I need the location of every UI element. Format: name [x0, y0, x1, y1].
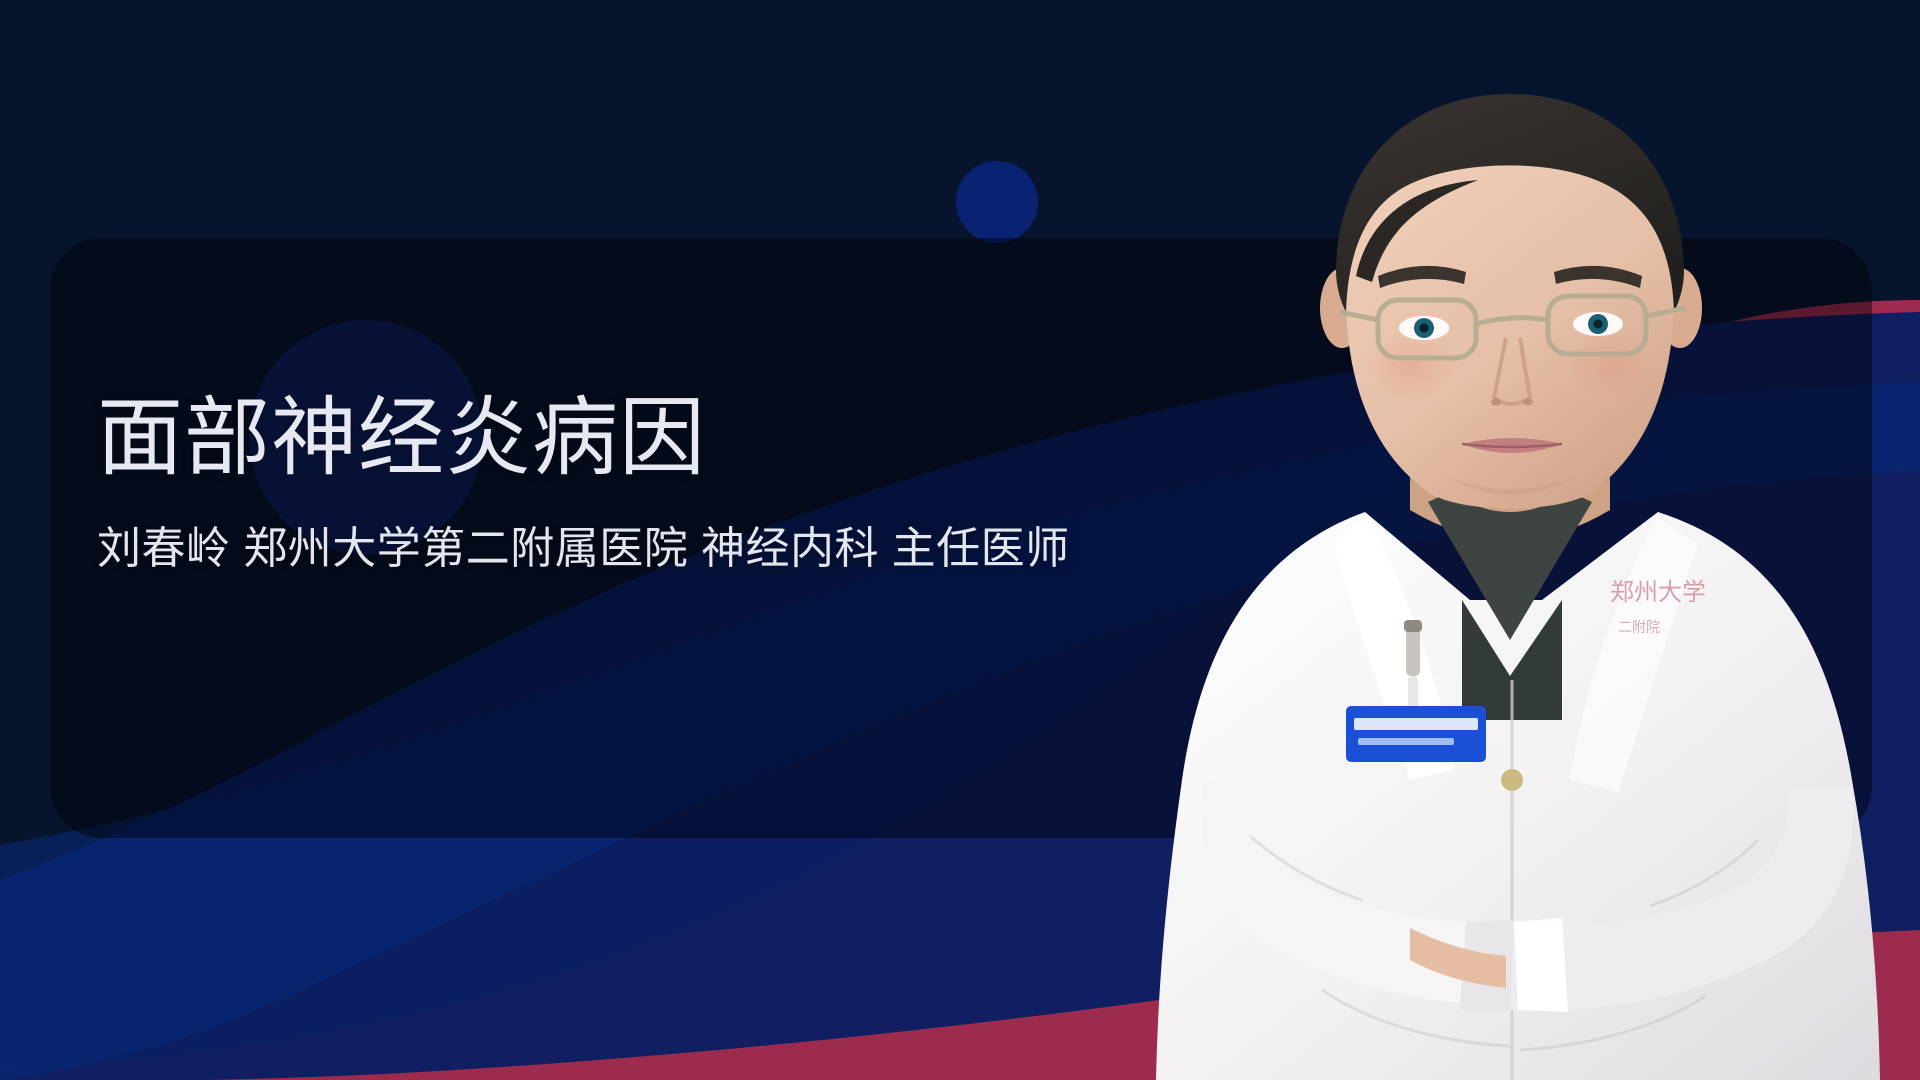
coat-emblem-subtext: 二附院 [1618, 619, 1660, 635]
slide-canvas: 面部神经炎病因 刘春岭 郑州大学第二附属医院 神经内科 主任医师 [0, 0, 1920, 1080]
presenter-byline: 刘春岭 郑州大学第二附属医院 神经内科 主任医师 [97, 523, 1257, 576]
coat-emblem-text: 郑州大学 [1610, 579, 1706, 606]
slide-title: 面部神经炎病因 [97, 392, 1257, 485]
presenter-portrait: 郑州大学 二附院 [1110, 80, 1920, 1080]
small-blue-dot [956, 161, 1038, 243]
portrait-illustration: 郑州大学 二附院 [1110, 80, 1920, 1080]
nostril-left [1491, 399, 1501, 406]
pupil-left [1420, 324, 1429, 333]
title-block: 面部神经炎病因 刘春岭 郑州大学第二附属医院 神经内科 主任医师 [97, 392, 1257, 576]
sleeve-cuff-left [1514, 918, 1568, 1012]
id-badge [1346, 706, 1486, 762]
pupil-right [1594, 320, 1603, 329]
coat-button [1501, 769, 1523, 791]
nostril-right [1523, 399, 1533, 406]
